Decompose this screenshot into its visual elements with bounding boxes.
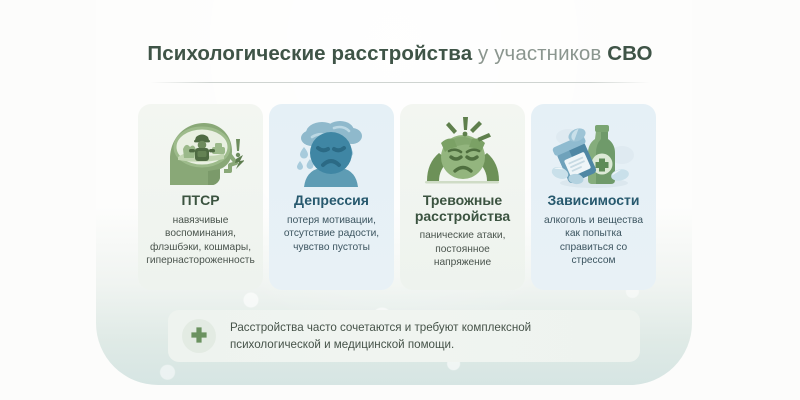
title-part-light: у участников: [472, 42, 607, 65]
title-part-bold-2: СВО: [607, 42, 652, 65]
infographic-canvas: Психологические расстройства у участнико…: [0, 0, 800, 400]
title-part-bold: Психологические расстройства: [147, 42, 472, 65]
disorder-card-anxiety: Тревожные расстройства панические атаки,…: [400, 104, 525, 290]
card-title: Зависимости: [548, 193, 640, 209]
head-soldier-flashback-icon: [158, 113, 244, 191]
title-divider: [150, 82, 650, 83]
summary-banner: Расстройства часто сочетаются и требуют …: [168, 310, 640, 362]
card-title: ПТСР: [181, 193, 219, 209]
medical-cross-icon: [182, 319, 216, 353]
summary-line-2: психологической и медицинской помощи.: [230, 336, 531, 353]
card-description: навязчивые воспоминания, флэшбэки, кошма…: [143, 214, 258, 268]
disorder-card-depression: Депрессия потеря мотивации, отсутствие р…: [269, 104, 394, 290]
page-title: Психологические расстройства у участнико…: [0, 42, 800, 66]
card-description: алкоголь и вещества как попытка справить…: [536, 214, 651, 268]
sad-face-rain-cloud-icon: [290, 113, 374, 191]
stressed-head-hands-icon: [417, 113, 509, 191]
disorder-card-addiction: Зависимости алкоголь и вещества как попы…: [531, 104, 656, 290]
summary-line-1: Расстройства часто сочетаются и требуют …: [230, 319, 531, 336]
card-title: Тревожные расстройства: [405, 193, 520, 224]
bottle-pills-icon: [548, 113, 640, 191]
summary-text: Расстройства часто сочетаются и требуют …: [230, 319, 531, 353]
card-title: Депрессия: [294, 193, 369, 209]
card-description: панические атаки, постоянное напряжение: [405, 229, 520, 270]
disorder-card-list: ПТСР навязчивые воспоминания, флэшбэки, …: [138, 104, 662, 290]
disorder-card-ptsr: ПТСР навязчивые воспоминания, флэшбэки, …: [138, 104, 263, 290]
card-description: потеря мотивации, отсутствие радости, чу…: [274, 214, 389, 255]
